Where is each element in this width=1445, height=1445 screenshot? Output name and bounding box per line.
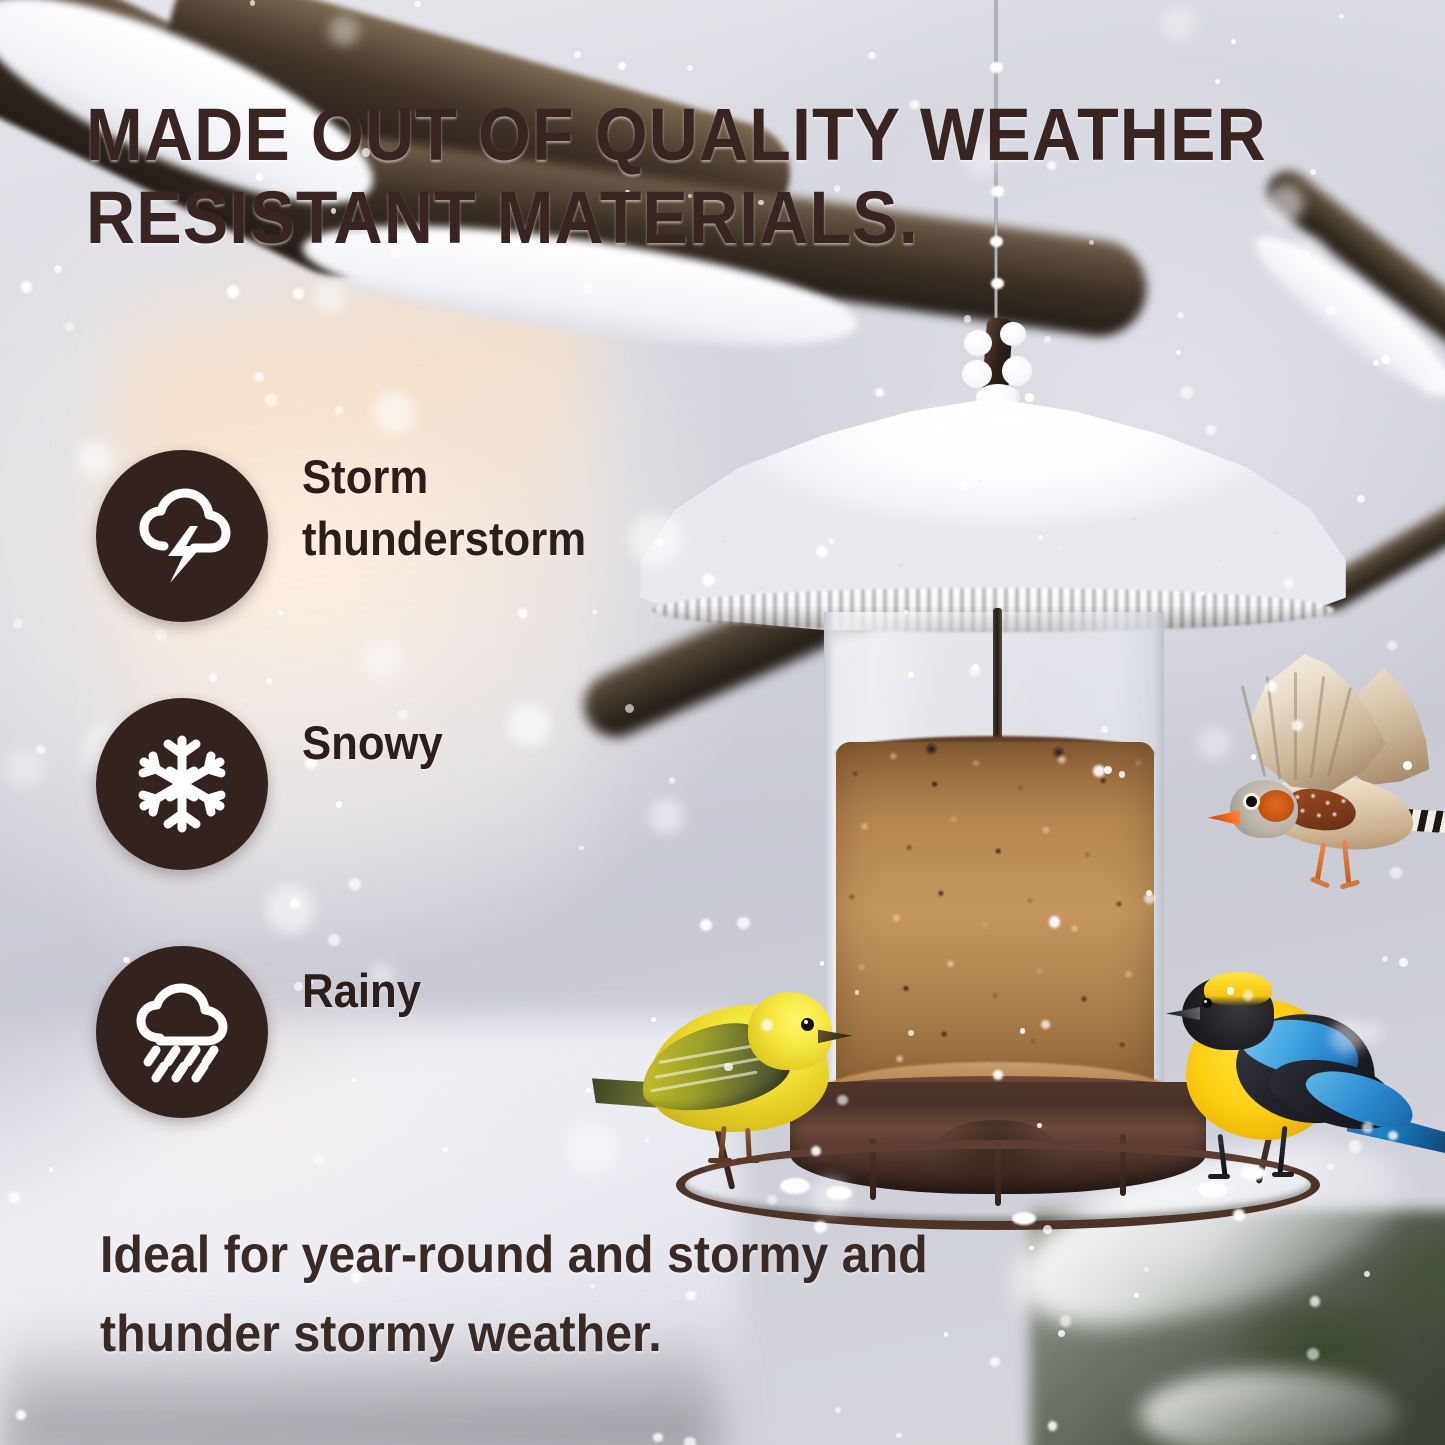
feature-label-rainy: Rainy (302, 960, 702, 1022)
feature-item-storm: Storm thunderstorm (96, 450, 736, 698)
feature-label-line-2: thunderstorm (302, 512, 586, 565)
snow-on-wire (991, 278, 1004, 289)
feeder-hook (962, 312, 1032, 412)
page-title: MADE OUT OF QUALITY WEATHER RESISTANT MA… (86, 94, 1162, 260)
tanager-foot (1272, 1172, 1294, 1177)
canary-leg (745, 1128, 752, 1160)
canary-eye-highlight (804, 1020, 808, 1024)
feature-label-line-1: Storm (302, 450, 428, 503)
feature-label-snowy: Snowy (302, 712, 702, 774)
bird-blue-winged-tanager (1158, 958, 1445, 1213)
snow-clump (1000, 322, 1026, 346)
finch-leg (1315, 842, 1327, 882)
tanager-foot (1208, 1174, 1230, 1179)
finch-feather-line (1294, 672, 1297, 780)
bird-seed-fill (836, 742, 1154, 1094)
canary-foot (736, 1158, 760, 1163)
tanager-leg (1217, 1134, 1227, 1176)
feature-label-line-1: Snowy (302, 716, 443, 769)
tanager-crown (1204, 972, 1272, 1006)
caption-line-1: Ideal for year-round and stormy and (100, 1216, 1021, 1295)
feature-item-snowy: Snowy (96, 698, 736, 946)
caption-line-2: thunder stormy weather. (100, 1295, 1021, 1374)
snow-clump (962, 360, 992, 388)
tanager-eye-highlight (1204, 1000, 1207, 1003)
cloud-rain-icon (96, 946, 268, 1118)
bird-zebra-finch-flying (1200, 650, 1445, 912)
snowflake-icon (96, 698, 268, 870)
product-feature-poster: MADE OUT OF QUALITY WEATHER RESISTANT MA… (0, 0, 1445, 1445)
cloud-lightning-icon (96, 450, 268, 622)
feature-list: Storm thunderstorm (96, 450, 736, 1194)
finch-foot (1340, 879, 1361, 889)
feature-item-rainy: Rainy (96, 946, 736, 1194)
finch-eye (1246, 796, 1257, 807)
feature-label-storm: Storm thunderstorm (302, 446, 702, 570)
caption-text: Ideal for year-round and stormy and thun… (100, 1216, 1021, 1374)
snow-clump (1002, 356, 1032, 386)
snow-on-wire (990, 62, 1003, 73)
feature-label-line-1: Rainy (302, 964, 421, 1017)
finch-cheek-patch (1258, 790, 1294, 822)
headline-line-2: RESISTANT MATERIALS. (86, 177, 1162, 260)
snow-clump (964, 330, 992, 356)
headline-line-1: MADE OUT OF QUALITY WEATHER (86, 94, 1162, 177)
